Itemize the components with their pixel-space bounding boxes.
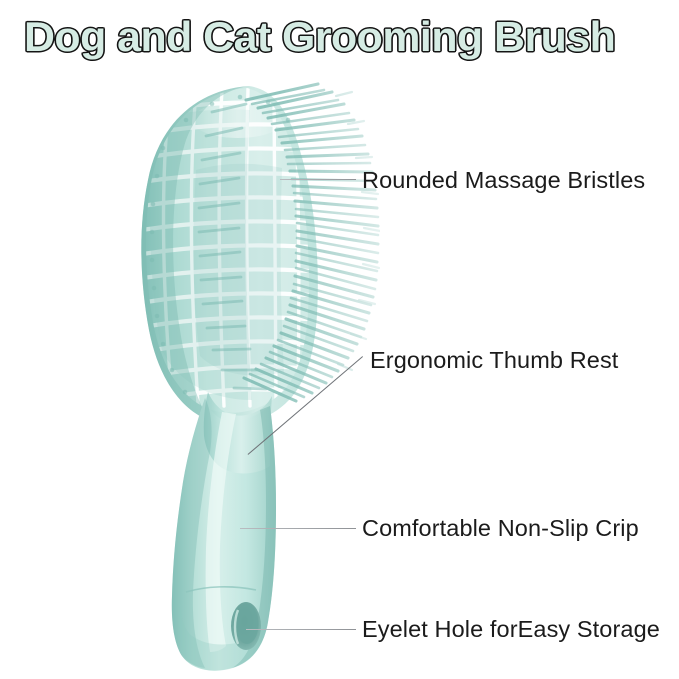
leader-line-comfortable-non-slip-grip	[240, 528, 356, 529]
leader-line-rounded-massage-bristles	[280, 179, 356, 180]
product-infographic: Dog and Cat Grooming Brush	[0, 0, 679, 679]
leader-line-eyelet-hole-storage	[246, 629, 356, 630]
product-image-grooming-brush	[0, 0, 679, 679]
brush-head-highlight	[192, 102, 284, 138]
eyelet-hole-inner	[236, 604, 259, 644]
callout-label-comfortable-non-slip-grip: Comfortable Non-Slip Crip	[362, 514, 639, 542]
callout-label-eyelet-hole-storage: Eyelet Hole forEasy Storage	[362, 615, 660, 643]
callout-label-rounded-massage-bristles: Rounded Massage Bristles	[362, 166, 645, 194]
callout-label-ergonomic-thumb-rest: Ergonomic Thumb Rest	[370, 346, 618, 374]
